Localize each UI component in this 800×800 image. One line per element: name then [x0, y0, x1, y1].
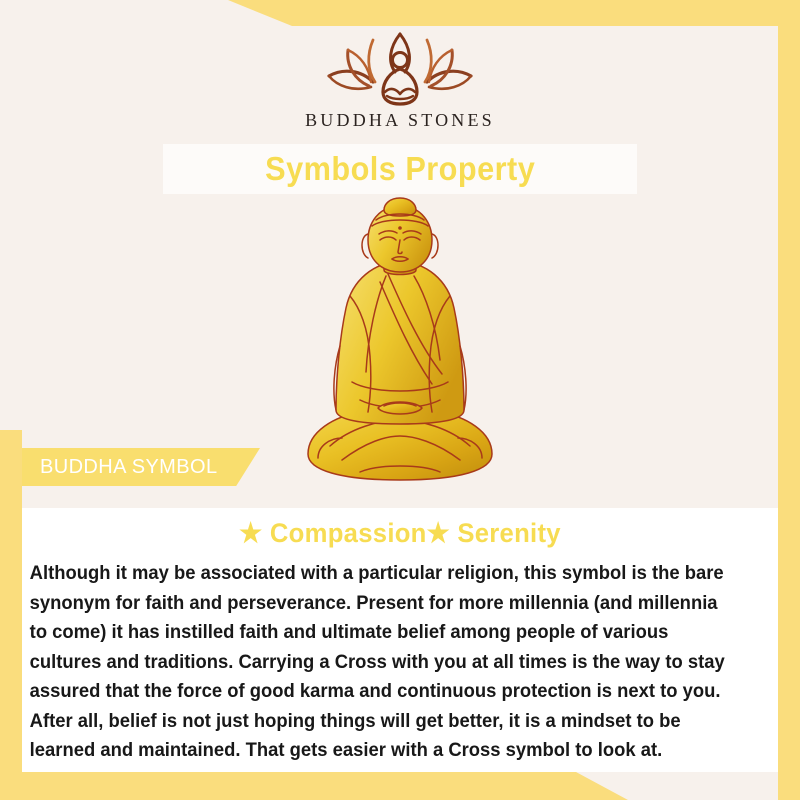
- brand-header: BUDDHA STONES: [0, 26, 800, 144]
- content-subheading: ★ Compassion★ Serenity: [41, 508, 759, 549]
- golden-seated-buddha-icon: [290, 196, 510, 492]
- content-panel: ★ Compassion★ Serenity Although it may b…: [22, 508, 778, 772]
- title-banner: Symbols Property: [163, 144, 637, 194]
- brand-wordmark: BUDDHA STONES: [305, 110, 495, 131]
- content-paragraph: Although it may be associated with a par…: [22, 549, 748, 766]
- frame-bottom-band: [0, 772, 800, 800]
- symbol-tag-banner: BUDDHA SYMBOL: [22, 448, 260, 486]
- page-title: Symbols Property: [265, 150, 535, 188]
- frame-top-band: [0, 0, 800, 26]
- lotus-meditation-figure-icon: [315, 30, 485, 108]
- symbol-tag-label: BUDDHA SYMBOL: [22, 456, 217, 479]
- poster-root: BUDDHA STONES Symbols Property: [0, 0, 800, 800]
- frame-left-bar: [0, 430, 22, 800]
